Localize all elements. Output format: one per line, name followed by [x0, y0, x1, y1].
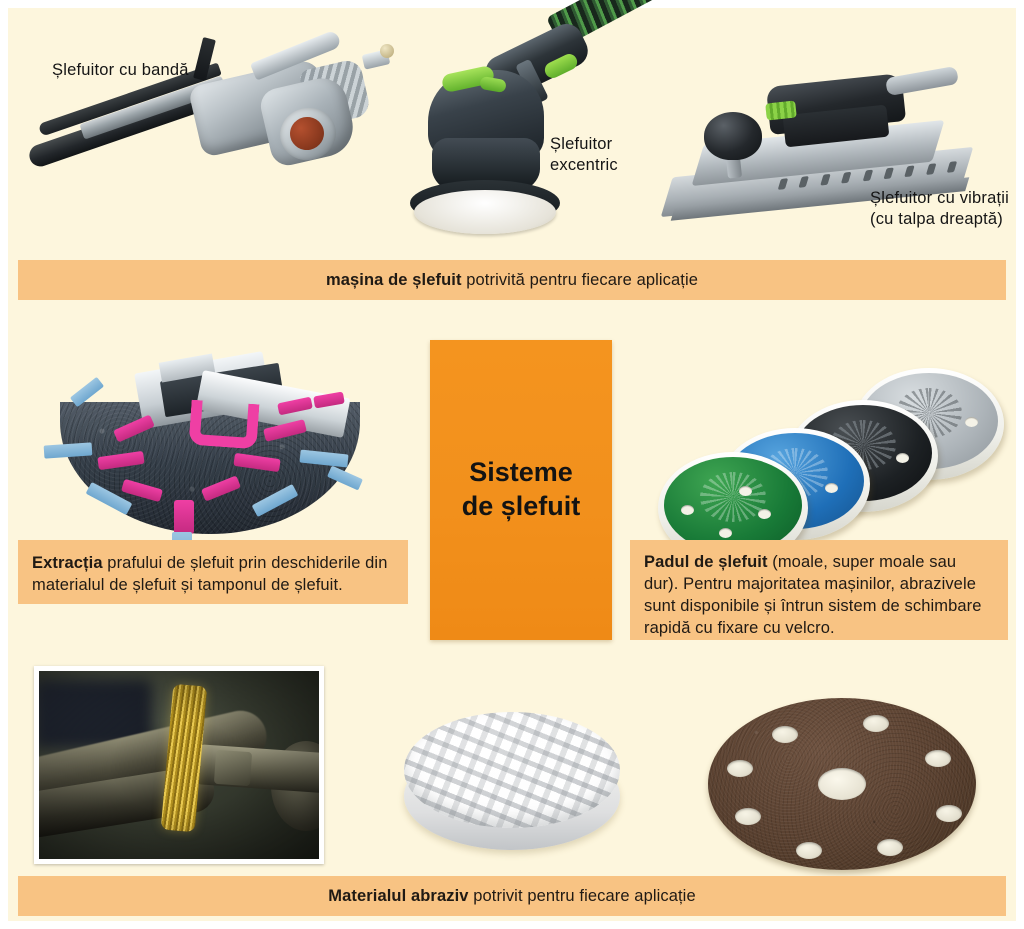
belt-sander-air-nipple — [380, 44, 394, 58]
abrasive-disc-hole — [727, 760, 753, 777]
belt-sander-image — [22, 20, 402, 250]
abrasive-disc-hole — [735, 808, 761, 825]
random-orbital-sander-label: Șlefuitor excentric — [550, 134, 618, 176]
caption-machines: mașina de șlefuit potrivită pentru fieca… — [18, 260, 1006, 300]
abrasive-disc-hole — [772, 726, 798, 743]
center-title-panel: Sisteme de șlefuit — [430, 340, 612, 640]
abrasive-disc-hole — [936, 805, 962, 822]
abrasive-disc-hole — [925, 750, 951, 767]
machines-row: Șlefuitor cu bandă Șlefuitor excentric — [8, 8, 1016, 258]
brush-photo-vignette — [39, 671, 319, 859]
center-title-text: Sisteme de șlefuit — [462, 456, 581, 524]
caption-pad-bold: Padul de șlefuit — [644, 553, 768, 571]
abrasive-disc-image — [708, 698, 976, 870]
board-sander-front-knob — [704, 112, 762, 160]
dust-arrow-pink-vee — [189, 400, 260, 450]
board-sander-handle-arm — [885, 66, 959, 96]
caption-pad: Padul de șlefuit (moale, super moale sau… — [630, 540, 1008, 640]
infographic-page: Șlefuitor cu bandă Șlefuitor excentric — [0, 0, 1024, 929]
foam-polishing-pad-image — [398, 708, 626, 858]
abrasive-disc-hole — [877, 839, 903, 856]
caption-abrasive-rest: potrivit pentru fiecare aplicație — [469, 887, 696, 905]
board-sander-green-switch — [765, 100, 797, 120]
dust-arrow-pink — [174, 500, 194, 534]
random-orbital-sander-image — [404, 22, 674, 254]
foam-pad-waffle-surface — [404, 712, 620, 828]
caption-extraction: Extracția prafului de șlefuit prin desch… — [18, 540, 408, 604]
infographic-canvas: Șlefuitor cu bandă Șlefuitor excentric — [8, 8, 1016, 921]
caption-machines-bold: mașina de șlefuit — [326, 271, 462, 289]
orbital-white-pad — [414, 190, 556, 234]
pad-stack-image — [658, 366, 1018, 546]
foam-pad-wave-texture — [404, 712, 620, 828]
caption-abrasive-bold: Materialul abraziv — [328, 887, 468, 905]
caption-extraction-bold: Extracția — [32, 554, 103, 572]
caption-machines-rest: potrivită pentru fiecare aplicație — [462, 271, 698, 289]
abrasive-disc-center-hole — [818, 768, 866, 800]
caption-abrasive: Materialul abraziv potrivit pentru fieca… — [18, 876, 1006, 916]
orbital-board-sander-label: Șlefuitor cu vibrații (cu talpa dreaptă) — [870, 188, 1009, 230]
extraction-cutaway-image — [42, 356, 392, 546]
belt-sander-label: Șlefuitor cu bandă — [52, 60, 189, 81]
wire-brush-photo — [34, 666, 324, 864]
